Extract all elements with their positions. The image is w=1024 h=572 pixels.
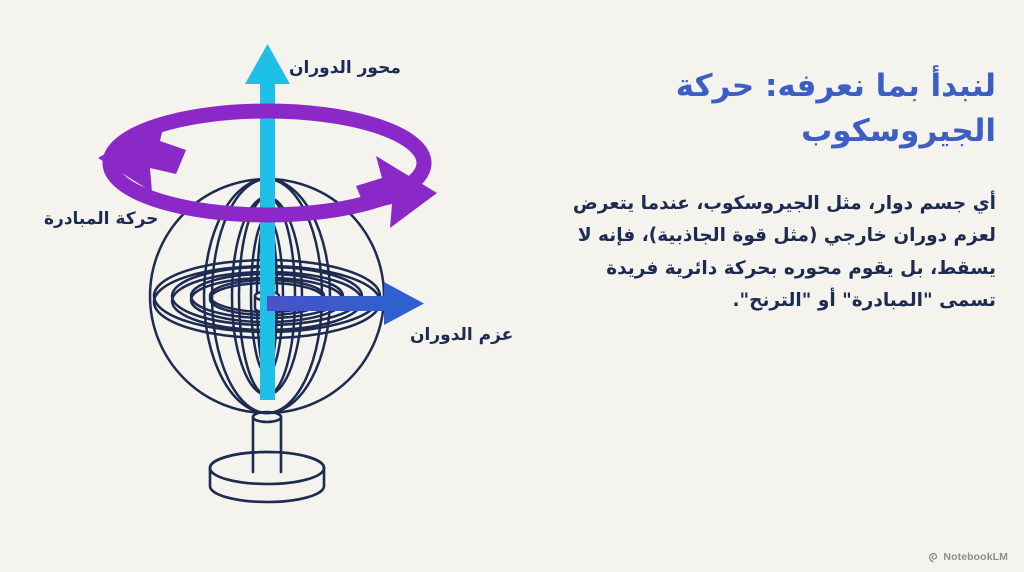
- watermark-label: NotebookLM: [943, 551, 1008, 563]
- notebooklm-spiral-icon: [928, 552, 939, 563]
- gyroscope-illustration: [0, 0, 540, 572]
- gyroscope-diagram: محور الدوران حركة المبادرة عزم الدوران: [0, 0, 540, 572]
- slide-title: لنبدأ بما نعرفه: حركة الجيروسكوب: [558, 64, 996, 154]
- text-panel: لنبدأ بما نعرفه: حركة الجيروسكوب أي جسم …: [548, 0, 1024, 572]
- slide-body-text: أي جسم دوار، مثل الجيروسكوب، عندما يتعرض…: [558, 188, 996, 318]
- label-axis-of-rotation: محور الدوران: [289, 58, 401, 78]
- label-precession-motion: حركة المبادرة: [44, 209, 158, 229]
- slide-canvas: محور الدوران حركة المبادرة عزم الدوران ل…: [0, 0, 1024, 572]
- label-torque: عزم الدوران: [410, 325, 513, 345]
- gyroscope-stand: [210, 412, 324, 502]
- notebooklm-watermark: NotebookLM: [928, 551, 1008, 563]
